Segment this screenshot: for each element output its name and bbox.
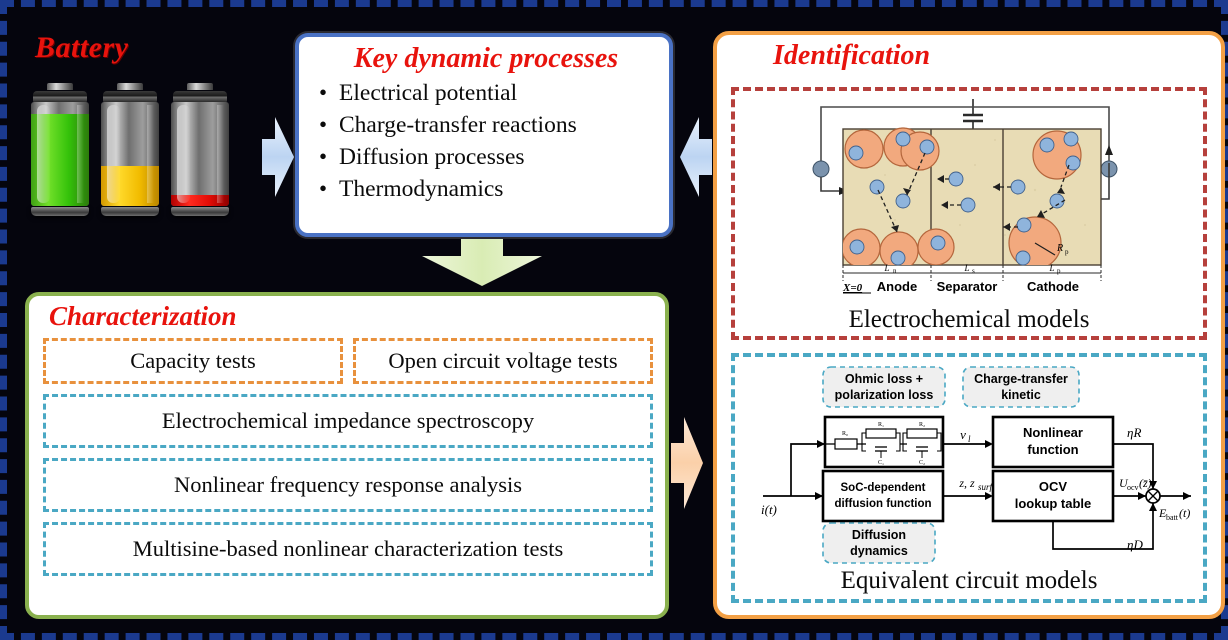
svg-text:R₂: R₂ xyxy=(919,422,925,428)
svg-text:polarization loss: polarization loss xyxy=(835,388,934,402)
equivalent-circuit-models-section: Ohmic loss + polarization loss Charge-tr… xyxy=(731,353,1207,603)
key-dynamic-processes-card: Key dynamic processes Electrical potenti… xyxy=(295,33,673,237)
battery-terminal-icon xyxy=(117,83,143,90)
signal-v1: v xyxy=(960,427,966,442)
battery-gloss-icon xyxy=(107,105,120,203)
signal-eta-r: ηR xyxy=(1127,425,1141,440)
svg-text:Charge-transfer: Charge-transfer xyxy=(974,372,1068,386)
battery-gloss-icon xyxy=(147,105,154,203)
separator-thickness-label: L xyxy=(963,263,969,273)
block-diagram: Ohmic loss + polarization loss Charge-tr… xyxy=(735,359,1203,574)
svg-text:R₁: R₁ xyxy=(878,422,884,428)
characterization-panel: Characterization Capacity tests Open cir… xyxy=(25,292,669,619)
ocv-tests-box: Open circuit voltage tests xyxy=(353,338,653,384)
battery-base-icon xyxy=(101,207,159,216)
svg-text:l: l xyxy=(968,434,971,444)
svg-text:diffusion function: diffusion function xyxy=(834,498,931,510)
battery-cap-icon xyxy=(103,91,157,102)
full-charge-battery xyxy=(31,83,89,216)
svg-text:Diffusion: Diffusion xyxy=(852,528,906,542)
battery-body xyxy=(171,102,229,206)
electrochemical-models-section: R p L n L s L p xyxy=(731,87,1207,340)
mid-charge-battery xyxy=(101,83,159,216)
signal-eta-d: ηD xyxy=(1127,537,1143,552)
svg-text:dynamics: dynamics xyxy=(850,544,908,558)
list-item: Thermodynamics xyxy=(313,174,659,206)
electrode-schematic: R p L n L s L p xyxy=(735,95,1203,305)
nfra-box: Nonlinear frequency response analysis xyxy=(43,458,653,512)
battery-body xyxy=(101,102,159,206)
anode-thickness-label: L xyxy=(883,263,889,273)
battery-body xyxy=(31,102,89,206)
arrow-identification-to-processes xyxy=(679,111,713,203)
battery-icon-row xyxy=(31,83,229,216)
svg-text:Nonlinear: Nonlinear xyxy=(1023,425,1083,440)
svg-text:Ohmic loss +: Ohmic loss + xyxy=(845,372,923,386)
rc-network-block: R₀ R₁ C₁ R₂ xyxy=(825,417,943,467)
battery-title: Battery xyxy=(21,31,271,65)
separator-label: Separator xyxy=(937,279,998,294)
svg-text:(z̄): (z̄) xyxy=(1139,476,1152,490)
battery-block: Battery xyxy=(21,31,271,231)
soc-diffusion-block: SoC-dependent diffusion function xyxy=(823,471,943,521)
ocv-lookup-block: OCV lookup table xyxy=(993,471,1113,521)
identification-panel: Identification xyxy=(713,31,1225,619)
characterization-top-row: Capacity tests Open circuit voltage test… xyxy=(43,338,653,384)
anode-label: Anode xyxy=(877,279,917,294)
origin-label: X=0 xyxy=(842,282,863,294)
battery-base-icon xyxy=(171,207,229,216)
svg-text:s: s xyxy=(972,267,975,275)
svg-text:batt: batt xyxy=(1166,513,1179,522)
battery-base-icon xyxy=(31,207,89,216)
battery-cap-icon xyxy=(33,91,87,102)
key-dynamic-processes-list: Electrical potential Charge-transfer rea… xyxy=(313,78,659,206)
list-item: Electrical potential xyxy=(313,78,659,110)
svg-text:lookup table: lookup table xyxy=(1015,496,1092,511)
svg-text:C₂: C₂ xyxy=(919,460,925,466)
electrochemical-models-caption: Electrochemical models xyxy=(735,306,1203,334)
svg-text:p: p xyxy=(1057,267,1061,275)
battery-gloss-icon xyxy=(37,105,50,203)
ohmic-loss-annotation: Ohmic loss + polarization loss xyxy=(823,367,945,407)
identification-title: Identification xyxy=(725,39,1213,73)
battery-gloss-icon xyxy=(217,105,224,203)
signal-soc: z, z xyxy=(958,476,975,490)
nonlinear-function-block: Nonlinear function xyxy=(993,417,1113,467)
svg-text:kinetic: kinetic xyxy=(1001,388,1041,402)
multisine-box: Multisine-based nonlinear characterizati… xyxy=(43,522,653,576)
cathode-thickness-label: L xyxy=(1048,263,1054,273)
diagram-canvas: Battery xyxy=(0,0,1228,640)
cathode-label: Cathode xyxy=(1027,279,1079,294)
svg-text:n: n xyxy=(893,267,897,275)
svg-text:SoC-dependent: SoC-dependent xyxy=(841,482,926,494)
battery-terminal-icon xyxy=(187,83,213,90)
arrow-processes-to-characterization xyxy=(420,238,544,288)
battery-gloss-icon xyxy=(77,105,84,203)
key-dynamic-processes-title: Key dynamic processes xyxy=(313,43,659,75)
particle-radius-label: R xyxy=(1056,243,1063,254)
svg-text:(t): (t) xyxy=(1179,506,1190,520)
signal-input: i(t) xyxy=(761,502,777,517)
battery-gloss-icon xyxy=(177,105,190,203)
svg-text:R₀: R₀ xyxy=(842,431,848,437)
eis-box: Electrochemical impedance spectroscopy xyxy=(43,394,653,448)
battery-terminal-icon xyxy=(47,83,73,90)
battery-cap-icon xyxy=(173,91,227,102)
diffusion-dynamics-annotation: Diffusion dynamics xyxy=(823,523,935,563)
list-item: Diffusion processes xyxy=(313,142,659,174)
svg-text:surf: surf xyxy=(978,482,994,492)
list-item: Charge-transfer reactions xyxy=(313,110,659,142)
svg-text:function: function xyxy=(1027,442,1078,457)
svg-text:ocv: ocv xyxy=(1127,483,1139,492)
capacity-tests-box: Capacity tests xyxy=(43,338,343,384)
svg-text:OCV: OCV xyxy=(1039,479,1068,494)
svg-text:p: p xyxy=(1065,248,1069,256)
svg-text:C₁: C₁ xyxy=(878,460,884,466)
low-charge-battery xyxy=(171,83,229,216)
arrow-battery-to-processes xyxy=(261,111,295,203)
arrow-characterization-to-identification xyxy=(670,413,704,513)
charge-transfer-annotation: Charge-transfer kinetic xyxy=(963,367,1079,407)
equivalent-circuit-models-caption: Equivalent circuit models xyxy=(735,567,1203,595)
characterization-title: Characterization xyxy=(43,302,653,332)
